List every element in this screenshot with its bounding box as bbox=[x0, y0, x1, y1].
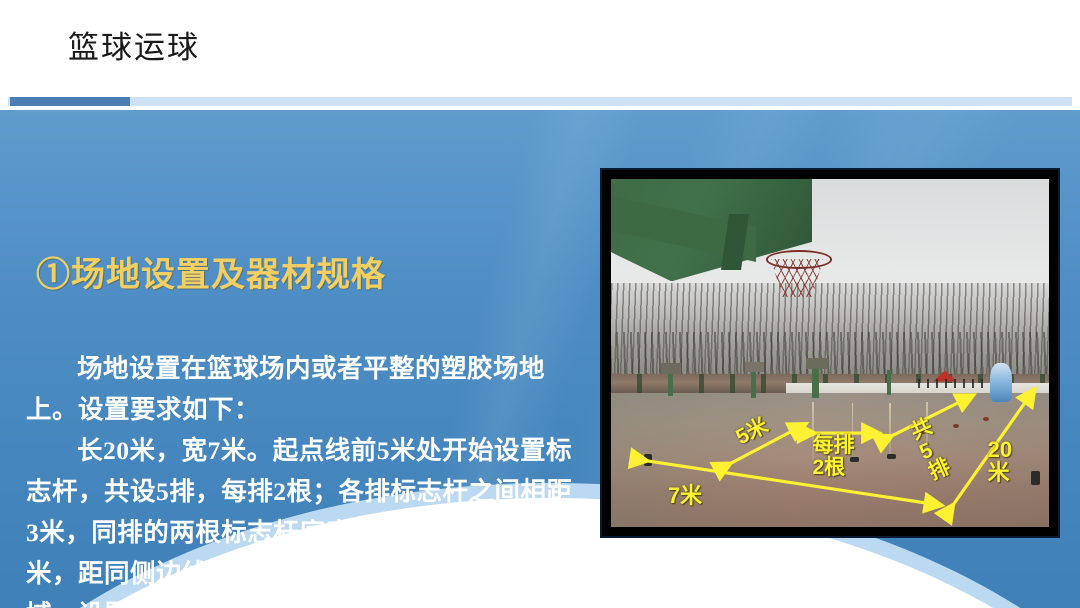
body-paragraph-2: 长20米，宽7米。起点线前5米处开始设置标志杆，共设5排，每排2根；各排标志杆之… bbox=[26, 430, 582, 608]
annotation-label-seven-meter: 7米 bbox=[668, 484, 702, 507]
annotation-label-twenty-meter: 20米 bbox=[988, 438, 1016, 484]
title-divider bbox=[0, 97, 1080, 109]
page-title: 篮球运球 bbox=[68, 22, 200, 67]
court-photo-frame: 5米 每排2根 共5排 20米 7米 bbox=[600, 168, 1060, 538]
body-paragraph-1: 场地设置在篮球场内或者平整的塑胶场地上。设置要求如下： bbox=[26, 348, 582, 430]
annotation-label-two-per-row: 每排2根 bbox=[812, 435, 864, 479]
divider-light-bar bbox=[8, 97, 1072, 106]
slide-root: 篮球运球 ①场地设置及器材规格 场地设置在篮球场内或者平整的塑胶场地上。设置要求… bbox=[0, 0, 1080, 608]
divider-accent-bar bbox=[10, 97, 130, 106]
body-text-block: 场地设置在篮球场内或者平整的塑胶场地上。设置要求如下： 长20米，宽7米。起点线… bbox=[26, 348, 582, 608]
court-photo: 5米 每排2根 共5排 20米 7米 bbox=[611, 179, 1049, 527]
section-heading: ①场地设置及器材规格 bbox=[36, 247, 386, 296]
